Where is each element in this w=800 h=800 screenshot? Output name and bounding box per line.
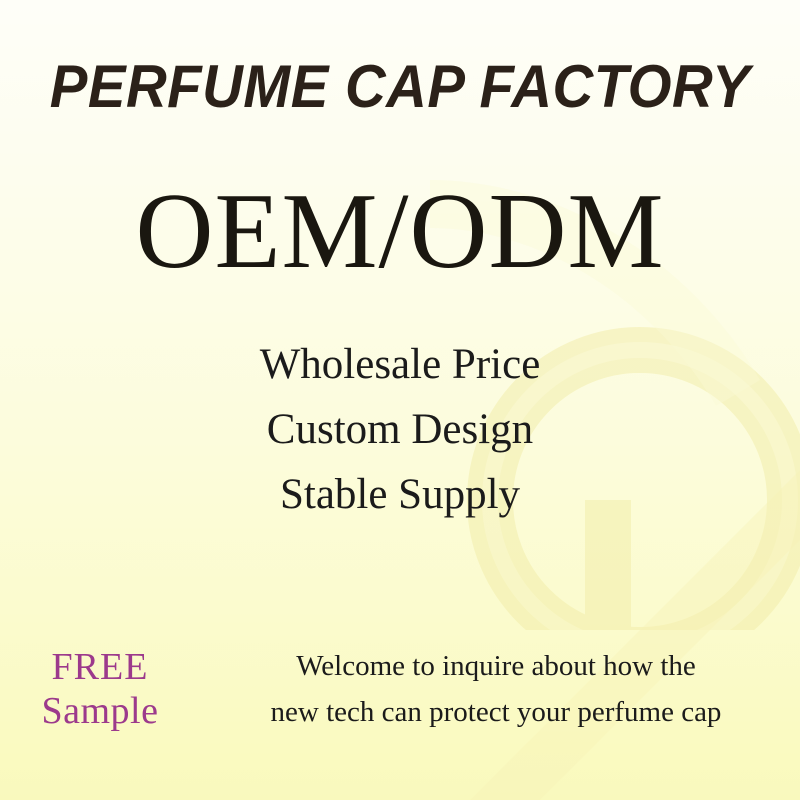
banner-footer: FREE Sample Welcome to inquire about how… (0, 634, 800, 744)
page-title: PERFUME CAP FACTORY (24, 54, 776, 120)
welcome-line-1: Welcome to inquire about how the (200, 643, 792, 689)
free-sample-badge: FREE Sample (0, 645, 200, 733)
feature-list: Wholesale Price Custom Design Stable Sup… (0, 332, 800, 527)
welcome-line-2: new tech can protect your perfume cap (200, 689, 792, 735)
service-type-heading: OEM/ODM (0, 175, 800, 288)
feature-item-wholesale-price: Wholesale Price (0, 332, 800, 397)
feature-item-stable-supply: Stable Supply (0, 462, 800, 527)
free-sample-line-1: FREE (0, 645, 200, 689)
welcome-message: Welcome to inquire about how the new tec… (200, 643, 800, 735)
promotional-banner: PERFUME CAP FACTORY OEM/ODM Wholesale Pr… (0, 0, 800, 800)
free-sample-line-2: Sample (0, 689, 200, 733)
feature-item-custom-design: Custom Design (0, 397, 800, 462)
